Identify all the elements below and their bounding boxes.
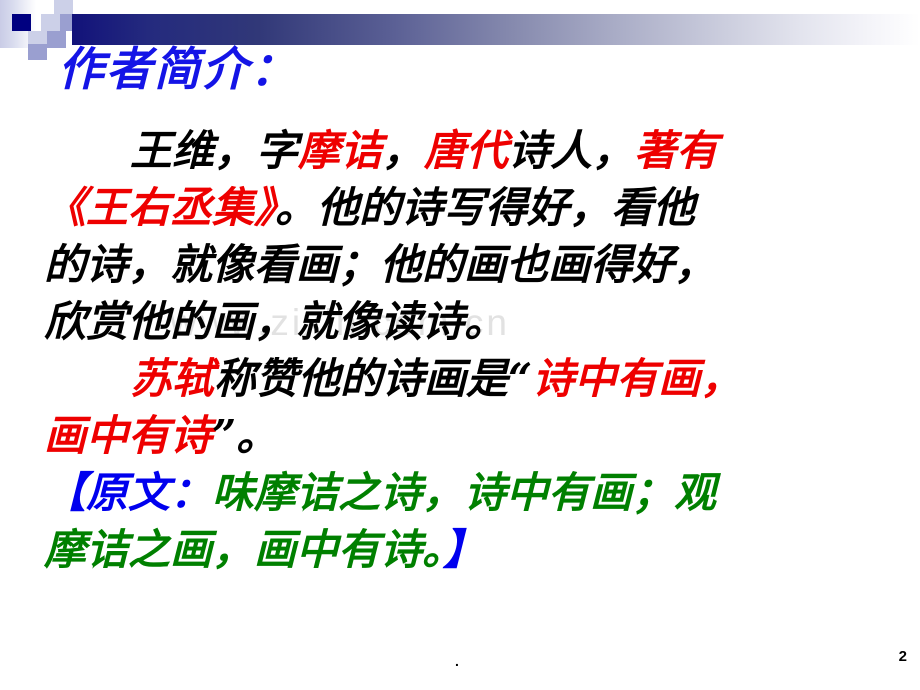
deco-fade-panel bbox=[0, 0, 36, 48]
text-run-red: 诗中有画， bbox=[532, 354, 742, 403]
deco-square-pale-3 bbox=[28, 31, 47, 48]
body-line: 画中有诗”。 bbox=[44, 407, 896, 464]
text-run-green: 味摩诘之诗，诗中有画；观 bbox=[212, 468, 716, 517]
text-run-red: 《王右丞集》 bbox=[44, 183, 275, 232]
body-line: 欣赏他的画，就像读诗。 bbox=[44, 293, 896, 350]
header-gradient-bar bbox=[72, 14, 920, 45]
footer-dot: . bbox=[455, 654, 459, 668]
text-run-black: ， bbox=[382, 126, 424, 175]
deco-square-pale-2 bbox=[41, 14, 60, 31]
text-run-red: 唐代 bbox=[424, 126, 508, 175]
text-run-blue: 原文： bbox=[86, 468, 212, 517]
text-run-black: 。他的诗写得好，看他 bbox=[275, 183, 695, 232]
text-run-blue: 】 bbox=[443, 525, 485, 574]
text-run-black: 称赞他的诗画是“ bbox=[214, 354, 532, 403]
text-run-red: 画中有诗 bbox=[44, 411, 212, 460]
text-run-black: 欣赏他的画，就像读诗。 bbox=[44, 297, 506, 346]
slide-body: 王维，字摩诘，唐代诗人，著有《王右丞集》。他的诗写得好，看他的诗，就像看画；他的… bbox=[44, 122, 896, 578]
body-line: 【原文：味摩诘之诗，诗中有画；观 bbox=[44, 464, 896, 521]
text-run-green: 摩诘之画，画中有诗。 bbox=[44, 525, 443, 574]
text-run-black: 的诗，就像看画；他的画也画得好， bbox=[44, 240, 716, 289]
text-run-red: 著有 bbox=[634, 126, 718, 175]
deco-square-mid-3 bbox=[28, 44, 47, 60]
body-line: 的诗，就像看画；他的画也画得好， bbox=[44, 236, 896, 293]
body-line: 摩诘之画，画中有诗。】 bbox=[44, 521, 896, 578]
body-line: 苏轼称赞他的诗画是“诗中有画， bbox=[44, 350, 896, 407]
slide-canvas: www.zixin.com.cn 作者简介： 王维，字摩诘，唐代诗人，著有《王右… bbox=[0, 0, 920, 690]
text-run-black: ”。 bbox=[212, 411, 278, 460]
body-line: 王维，字摩诘，唐代诗人，著有 bbox=[44, 122, 896, 179]
text-run-red: 苏轼 bbox=[130, 354, 214, 403]
body-line: 《王右丞集》。他的诗写得好，看他 bbox=[44, 179, 896, 236]
page-number: 2 bbox=[899, 648, 907, 665]
deco-square-navy bbox=[12, 14, 31, 31]
slide-title: 作者简介： bbox=[58, 46, 298, 92]
deco-square-pale-1 bbox=[54, 0, 73, 14]
text-run-black: 王维，字 bbox=[130, 126, 298, 175]
text-run-black: 诗人， bbox=[508, 126, 634, 175]
text-run-red: 摩诘 bbox=[298, 126, 382, 175]
text-run-blue: 【 bbox=[44, 468, 86, 517]
